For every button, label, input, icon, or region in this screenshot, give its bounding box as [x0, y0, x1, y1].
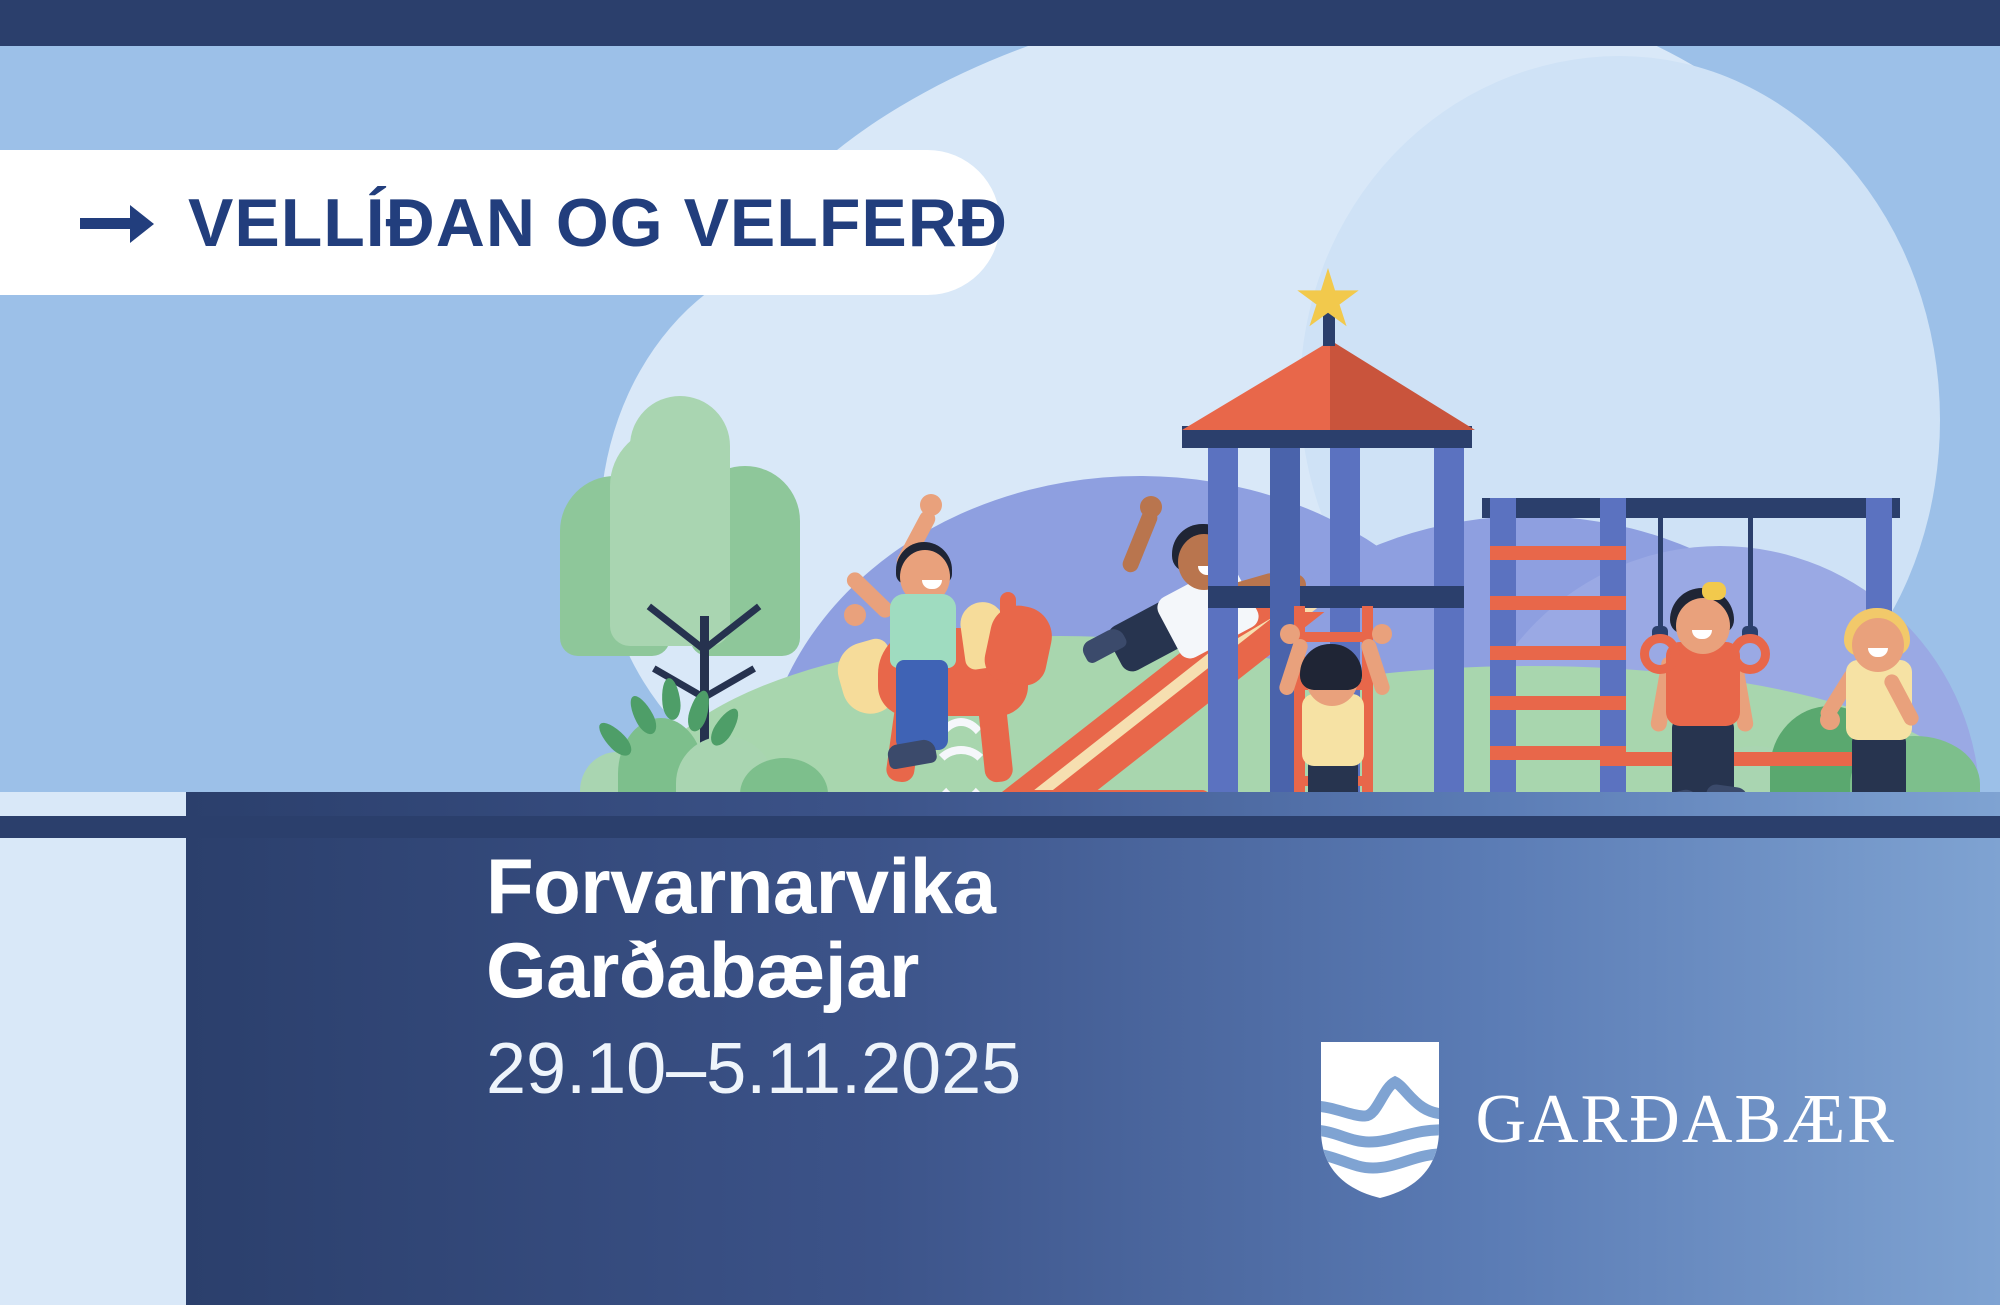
title-line-2: Garðabæjar [486, 928, 1021, 1012]
monkey-bar-top-beam [1482, 498, 1900, 518]
arrow-right-icon [80, 203, 154, 243]
tower-post [1434, 444, 1464, 818]
horse-ear [1000, 592, 1016, 618]
gardabaer-shield-icon [1321, 1042, 1439, 1198]
tower-roof-right [1330, 340, 1475, 430]
bottom-section: Forvarnarvika Garðabæjar 29.10–5.11.2025 [0, 792, 2000, 1305]
climb-rung [1490, 596, 1626, 610]
ring-rope [1658, 518, 1663, 636]
climb-rung [1490, 696, 1626, 710]
hair-bow [1702, 582, 1726, 600]
gymnastic-ring [1730, 634, 1770, 674]
gymnastic-ring [1640, 634, 1680, 674]
climb-rung [1490, 646, 1626, 660]
headline-banner: VELLÍÐAN OG VELFERÐ [0, 150, 1000, 295]
ring-rope [1748, 518, 1753, 636]
child-hand [1140, 496, 1162, 518]
tower-roof-left [1182, 340, 1332, 430]
gardabaer-wordmark: GARÐABÆR [1475, 1080, 1896, 1160]
poster-root: VELLÍÐAN OG VELFERÐ Forvarnarvika Garðab… [0, 0, 2000, 1305]
child-head [1852, 618, 1904, 672]
bottom-left-strip [0, 792, 186, 1305]
leaf [625, 692, 661, 738]
title-line-1: Forvarnarvika [486, 844, 1021, 928]
low-bar [1600, 752, 1880, 766]
child-head [1676, 598, 1730, 654]
headline-text: VELLÍÐAN OG VELFERÐ [188, 184, 1008, 262]
climb-rung [1490, 546, 1626, 560]
tree-branch [702, 665, 756, 700]
date-range: 29.10–5.11.2025 [486, 1026, 1021, 1112]
child-legs [896, 660, 948, 750]
tree-canopy-top [630, 396, 730, 516]
top-accent-bar [0, 0, 2000, 46]
child-hand [1820, 710, 1840, 730]
child-torso [890, 594, 956, 668]
title-block: Forvarnarvika Garðabæjar 29.10–5.11.2025 [486, 844, 1021, 1113]
gardabaer-logo: GARÐABÆR [1321, 1042, 1896, 1198]
child-hand [920, 494, 942, 516]
ground-line [0, 816, 2000, 838]
child-hand [844, 604, 866, 626]
child-hand [1372, 624, 1392, 644]
child-hand [1280, 624, 1300, 644]
tower-post [1208, 444, 1238, 818]
tower-beam [1330, 586, 1464, 608]
bottom-info-panel: Forvarnarvika Garðabæjar 29.10–5.11.2025 [186, 792, 2000, 1305]
